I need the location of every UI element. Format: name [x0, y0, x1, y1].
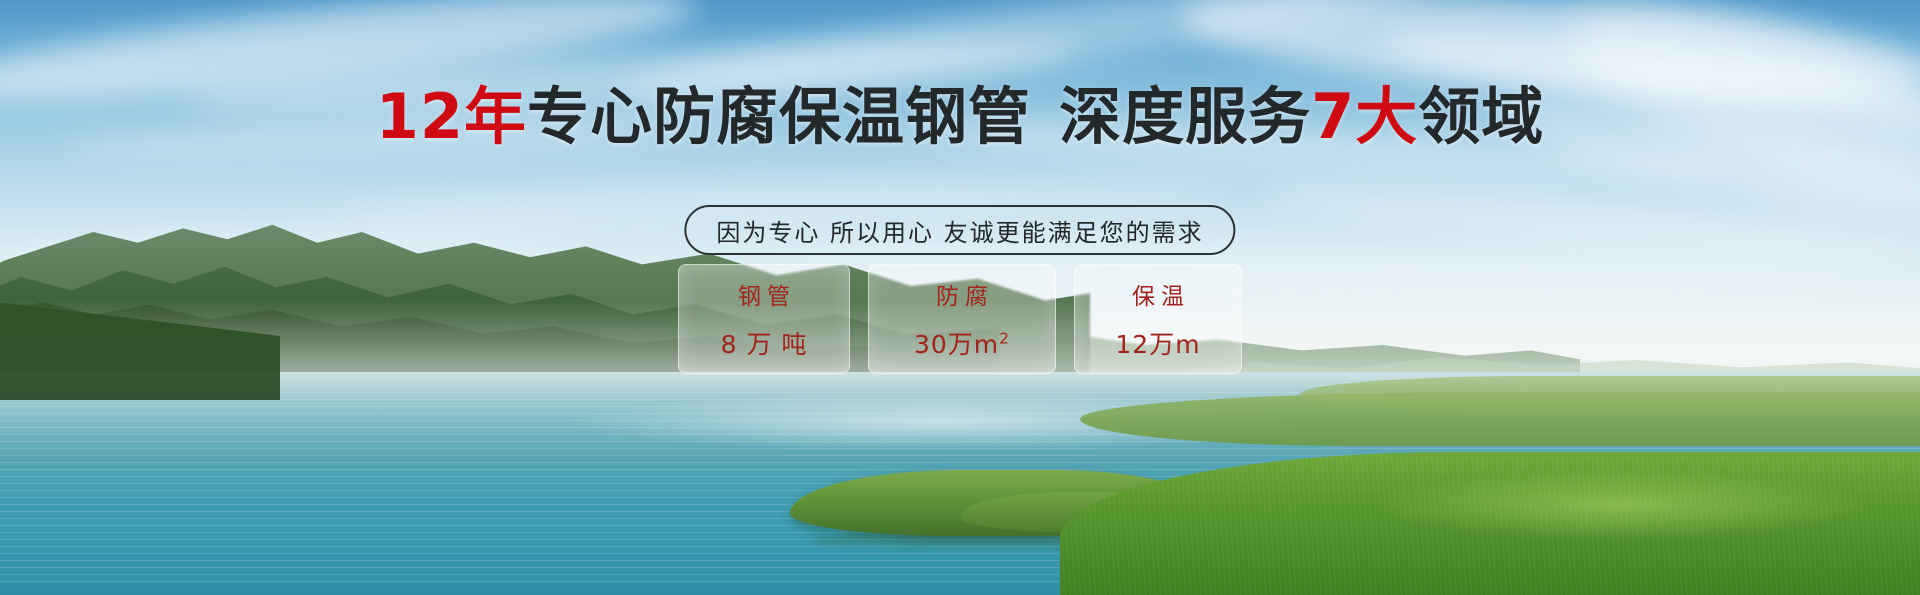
grass-highlight — [1380, 470, 1860, 540]
stat-card-title: 防腐 — [930, 277, 994, 311]
banner-subtitle-pill: 因为专心 所以用心 友诚更能满足您的需求 — [684, 205, 1235, 255]
headline-service: 深度服务 — [1059, 80, 1311, 153]
headline-focus: 专心防腐保温钢管 — [527, 80, 1031, 153]
headline-years: 12年 — [376, 80, 527, 153]
stat-card-group: 钢管 8 万 吨 防腐 30万m2 保温 12万m — [678, 264, 1242, 374]
stat-card-title: 钢管 — [732, 277, 796, 311]
banner-headline: 12年专心防腐保温钢管深度服务7大领域 — [0, 86, 1920, 148]
marsh-bank-far — [1300, 376, 1920, 410]
headline-fields: 领域 — [1418, 80, 1544, 153]
stat-card-insulation[interactable]: 保温 12万m — [1074, 264, 1242, 374]
stat-card-title: 保温 — [1126, 277, 1190, 311]
stat-card-value: 12万m — [1115, 325, 1200, 361]
stat-card-value-main: 30万m — [914, 330, 999, 359]
hero-banner: 12年专心防腐保温钢管深度服务7大领域 因为专心 所以用心 友诚更能满足您的需求… — [0, 0, 1920, 595]
headline-seven: 7大 — [1311, 80, 1418, 153]
stat-card-value-superscript: 2 — [999, 330, 1010, 348]
stat-card-value: 30万m2 — [914, 325, 1010, 361]
stat-card-anticorrosion[interactable]: 防腐 30万m2 — [868, 264, 1056, 374]
banner-subtitle-text: 因为专心 所以用心 友诚更能满足您的需求 — [716, 213, 1203, 248]
stat-card-value: 8 万 吨 — [721, 325, 808, 361]
stat-card-steel-pipe[interactable]: 钢管 8 万 吨 — [678, 264, 850, 374]
